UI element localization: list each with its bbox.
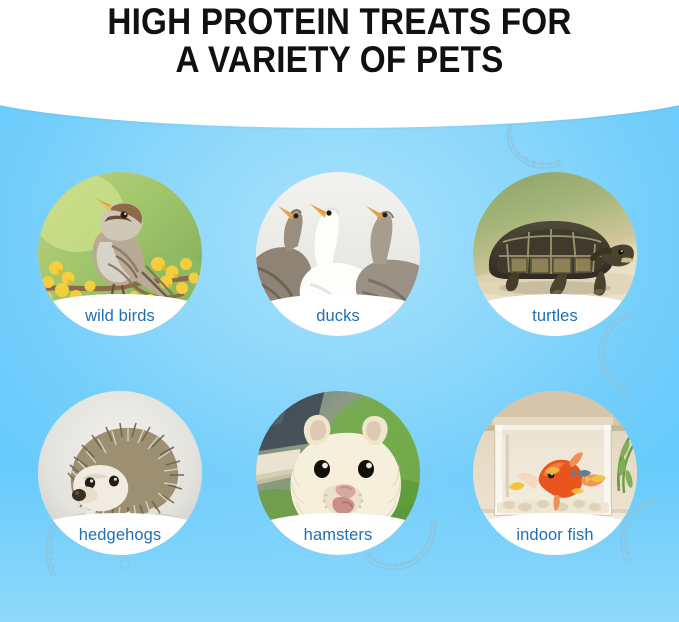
pet-card-label: hedgehogs <box>38 526 202 545</box>
pet-card-label: hamsters <box>256 526 420 545</box>
pet-card-indoor-fish[interactable]: indoor fish <box>473 391 637 555</box>
pet-card-label: ducks <box>256 307 420 326</box>
page-title: HIGH PROTEIN TREATS FOR A VARIETY OF PET… <box>34 0 645 79</box>
pet-card-turtles[interactable]: turtles <box>473 172 637 336</box>
pet-card-label: indoor fish <box>473 526 637 545</box>
pet-card-ducks[interactable]: ducks <box>256 172 420 336</box>
pet-category-grid: wild birds <box>0 172 679 572</box>
pet-card-label: wild birds <box>38 307 202 326</box>
pet-card-hedgehogs[interactable]: hedgehogs <box>38 391 202 555</box>
pet-card-wild-birds[interactable]: wild birds <box>38 172 202 336</box>
pet-card-label: turtles <box>473 307 637 326</box>
pet-card-hamsters[interactable]: hamsters <box>256 391 420 555</box>
